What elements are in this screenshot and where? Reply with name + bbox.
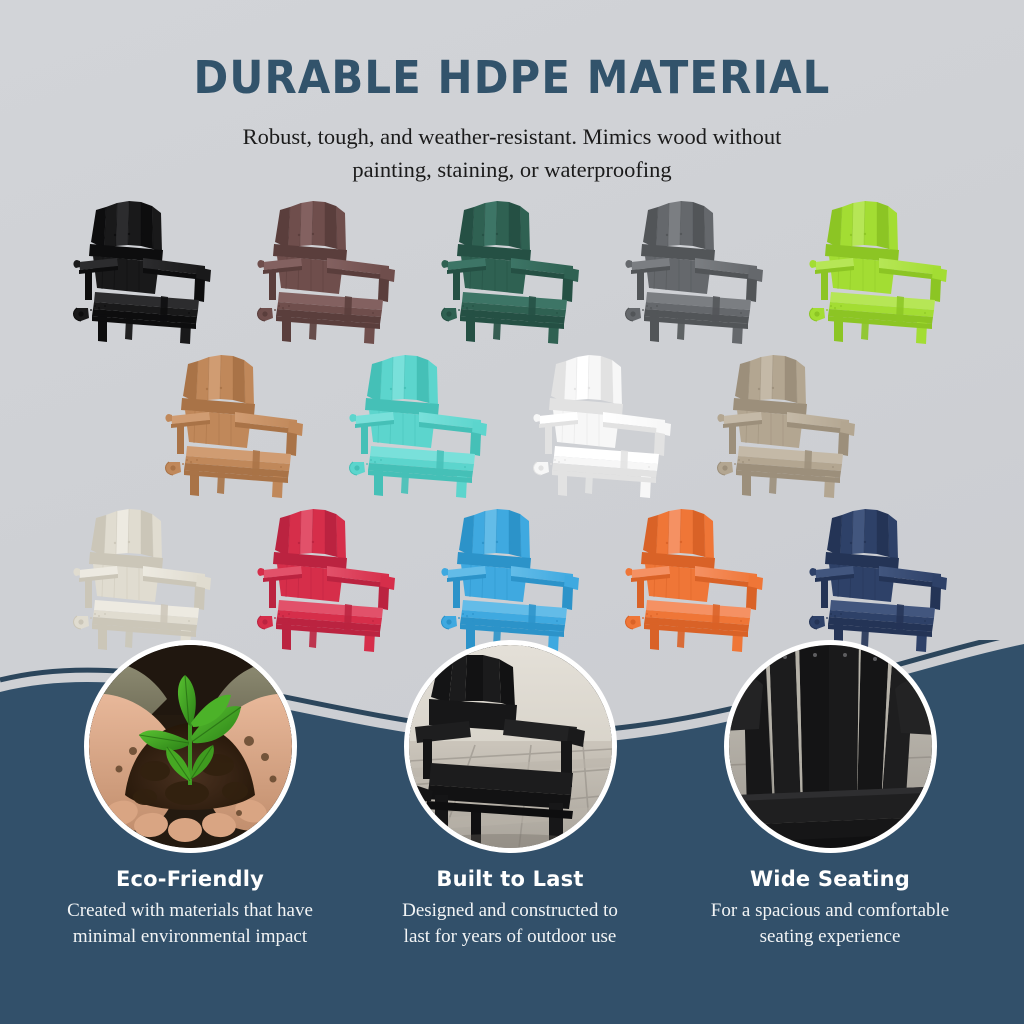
chair-svg — [161, 350, 311, 498]
chair-lime-green[interactable] — [799, 196, 961, 344]
chair-svg — [345, 350, 495, 498]
page-title: DURABLE HDPE MATERIAL — [36, 54, 988, 101]
chair-gray[interactable] — [615, 196, 777, 344]
subtitle-line-2: painting, staining, or waterproofing — [352, 157, 671, 182]
chair-red[interactable] — [247, 504, 409, 652]
chair-row-3 — [0, 504, 1024, 652]
chair-svg — [69, 504, 219, 652]
feature-desc-line-2: minimal environmental impact — [73, 926, 307, 947]
wide-seating-photo — [724, 640, 937, 853]
chair-navy-blue[interactable] — [799, 504, 961, 652]
page-subtitle: Robust, tough, and weather-resistant. Mi… — [162, 121, 862, 186]
eco-friendly-photo — [84, 640, 297, 853]
feature-built-to-last: Built to Last Designed and constructed t… — [345, 640, 675, 950]
feature-title: Eco-Friendly — [25, 867, 355, 891]
chair-svg — [69, 196, 219, 344]
chair-svg — [253, 196, 403, 344]
chair-dark-green[interactable] — [431, 196, 593, 344]
product-infographic: DURABLE HDPE MATERIAL Robust, tough, and… — [0, 0, 1024, 1024]
feature-description: Created with materials that have minimal… — [25, 898, 355, 950]
chair-ivory[interactable] — [63, 504, 225, 652]
feature-description: For a spacious and comfortable seating e… — [665, 898, 995, 950]
chair-teak[interactable] — [155, 350, 317, 498]
chair-row-1 — [0, 196, 1024, 344]
feature-description: Designed and constructed to last for yea… — [345, 898, 675, 950]
chair-sky-blue[interactable] — [431, 504, 593, 652]
feature-desc-line-1: For a spacious and comfortable — [711, 900, 949, 921]
chair-brown[interactable] — [247, 196, 409, 344]
chair-svg — [253, 504, 403, 652]
feature-title: Built to Last — [345, 867, 675, 891]
chair-weathered-wood[interactable] — [707, 350, 869, 498]
built-to-last-photo — [404, 640, 617, 853]
features-section: Eco-Friendly Created with materials that… — [0, 640, 1024, 1024]
chair-svg — [621, 196, 771, 344]
chair-svg — [713, 350, 863, 498]
chair-svg — [805, 196, 955, 344]
feature-wide-seating: Wide Seating For a spacious and comforta… — [665, 640, 995, 950]
chair-svg — [529, 350, 679, 498]
chair-white[interactable] — [523, 350, 685, 498]
chair-turquoise[interactable] — [339, 350, 501, 498]
chair-color-grid — [0, 196, 1024, 652]
chair-svg — [437, 196, 587, 344]
chair-orange[interactable] — [615, 504, 777, 652]
feature-desc-line-1: Created with materials that have — [67, 900, 313, 921]
chair-black[interactable] — [63, 196, 225, 344]
header: DURABLE HDPE MATERIAL Robust, tough, and… — [0, 0, 1024, 187]
feature-desc-line-2: last for years of outdoor use — [404, 926, 617, 947]
chair-svg — [621, 504, 771, 652]
feature-title: Wide Seating — [665, 867, 995, 891]
chair-svg — [437, 504, 587, 652]
feature-desc-line-1: Designed and constructed to — [402, 900, 618, 921]
feature-desc-line-2: seating experience — [760, 926, 901, 947]
chair-row-2 — [0, 350, 1024, 498]
subtitle-line-1: Robust, tough, and weather-resistant. Mi… — [243, 124, 782, 149]
feature-eco-friendly: Eco-Friendly Created with materials that… — [25, 640, 355, 950]
chair-svg — [805, 504, 955, 652]
